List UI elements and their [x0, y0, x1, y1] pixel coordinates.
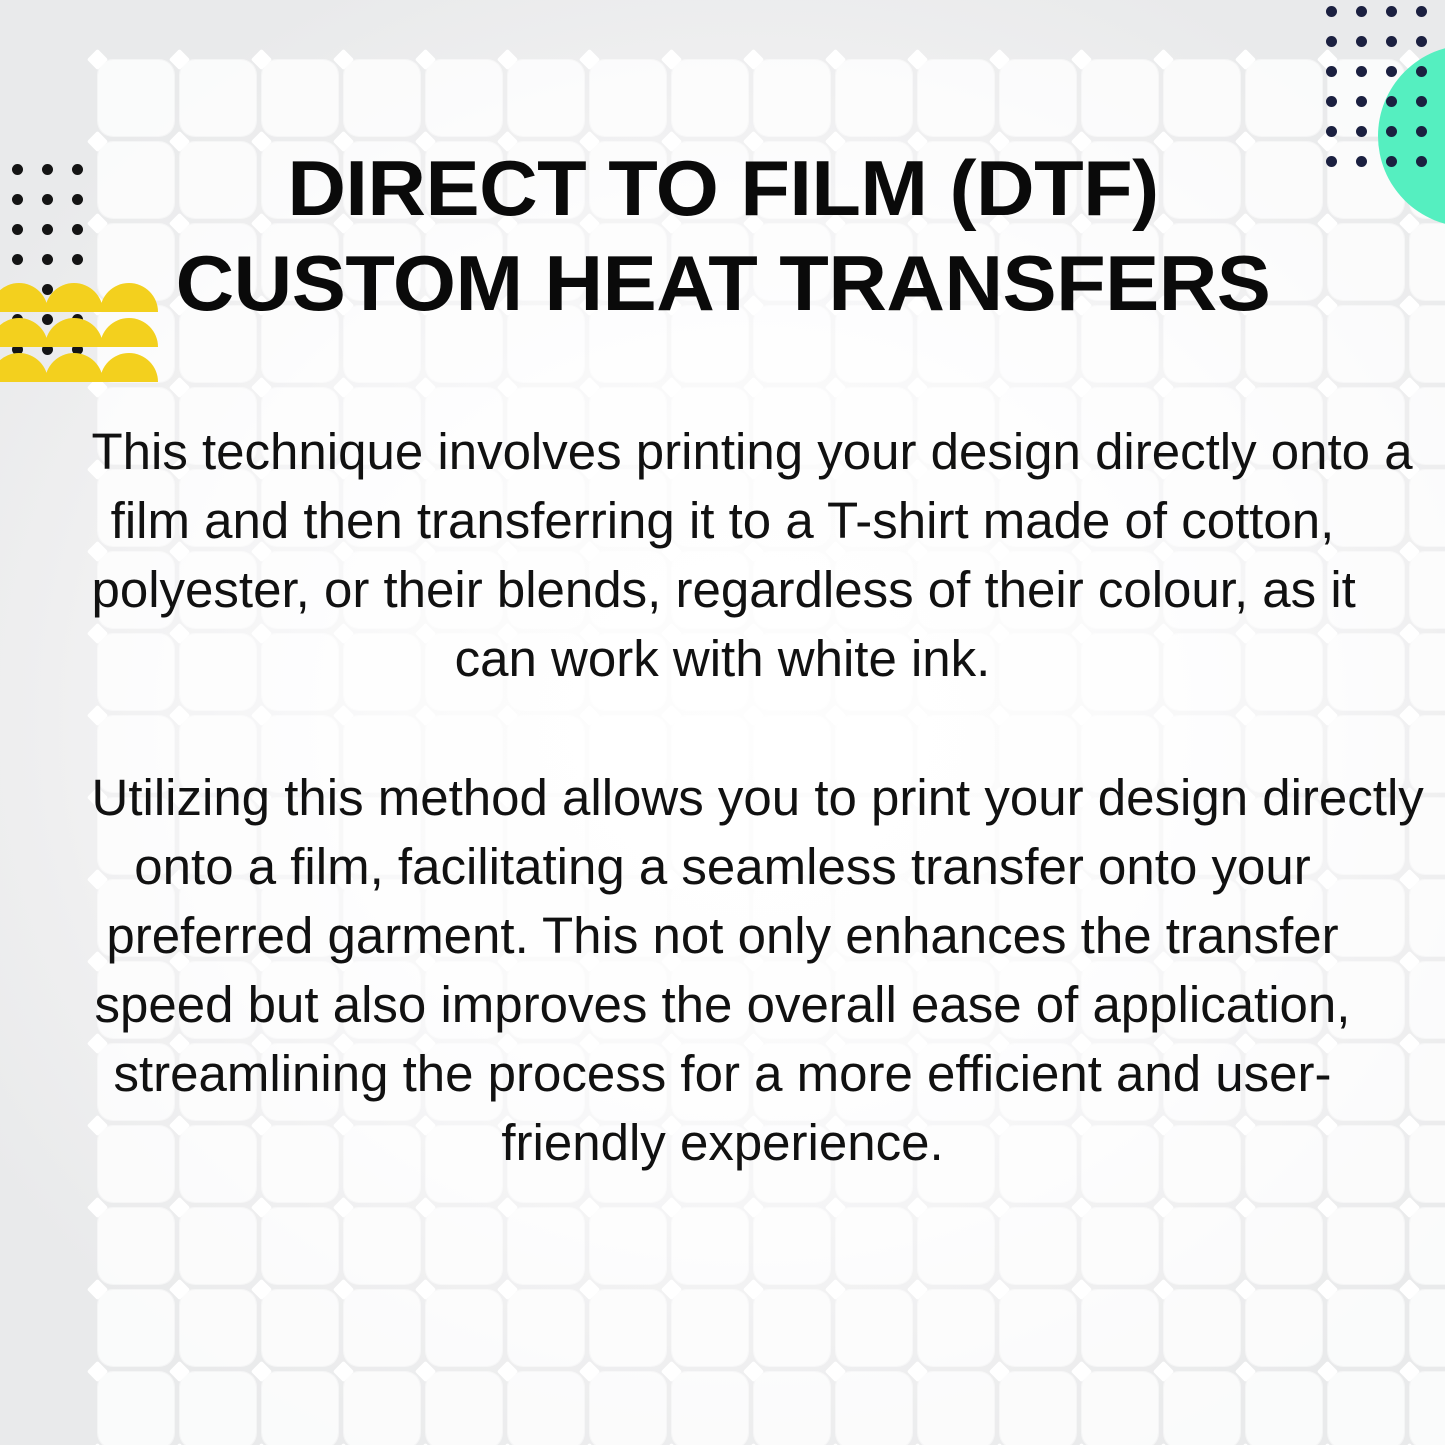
page-title: DIRECT TO FILM (DTF) CUSTOM HEAT TRANSFE… — [140, 141, 1305, 331]
page-title-line-1: DIRECT TO FILM (DTF) — [140, 141, 1305, 236]
page-title-line-2: CUSTOM HEAT TRANSFERS — [140, 236, 1305, 331]
paragraph-2: Utilizing this method allows you to prin… — [92, 763, 1354, 1177]
paragraph-1-line-3: polyester, or their blends, regardless o… — [92, 555, 1354, 624]
poster-content: DIRECT TO FILM (DTF) CUSTOM HEAT TRANSFE… — [0, 0, 1445, 1445]
paragraph-1-line-2: film and then transferring it to a T-shi… — [92, 486, 1354, 555]
body-copy: This technique involves printing your de… — [92, 417, 1354, 1177]
paragraph-2-line-2: onto a film, facilitating a seamless tra… — [92, 832, 1354, 901]
poster-canvas: DIRECT TO FILM (DTF) CUSTOM HEAT TRANSFE… — [0, 0, 1445, 1445]
paragraph-1-line-4: can work with white ink. — [92, 624, 1354, 693]
paragraph-1: This technique involves printing your de… — [92, 417, 1354, 693]
paragraph-2-line-5: streamlining the process for a more effi… — [92, 1039, 1354, 1108]
paragraph-1-line-1: This technique involves printing your de… — [92, 417, 1354, 486]
paragraph-2-line-4: speed but also improves the overall ease… — [92, 970, 1354, 1039]
paragraph-2-line-6: friendly experience. — [92, 1108, 1354, 1177]
paragraph-2-line-3: preferred garment. This not only enhance… — [92, 901, 1354, 970]
paragraph-2-line-1: Utilizing this method allows you to prin… — [92, 763, 1354, 832]
